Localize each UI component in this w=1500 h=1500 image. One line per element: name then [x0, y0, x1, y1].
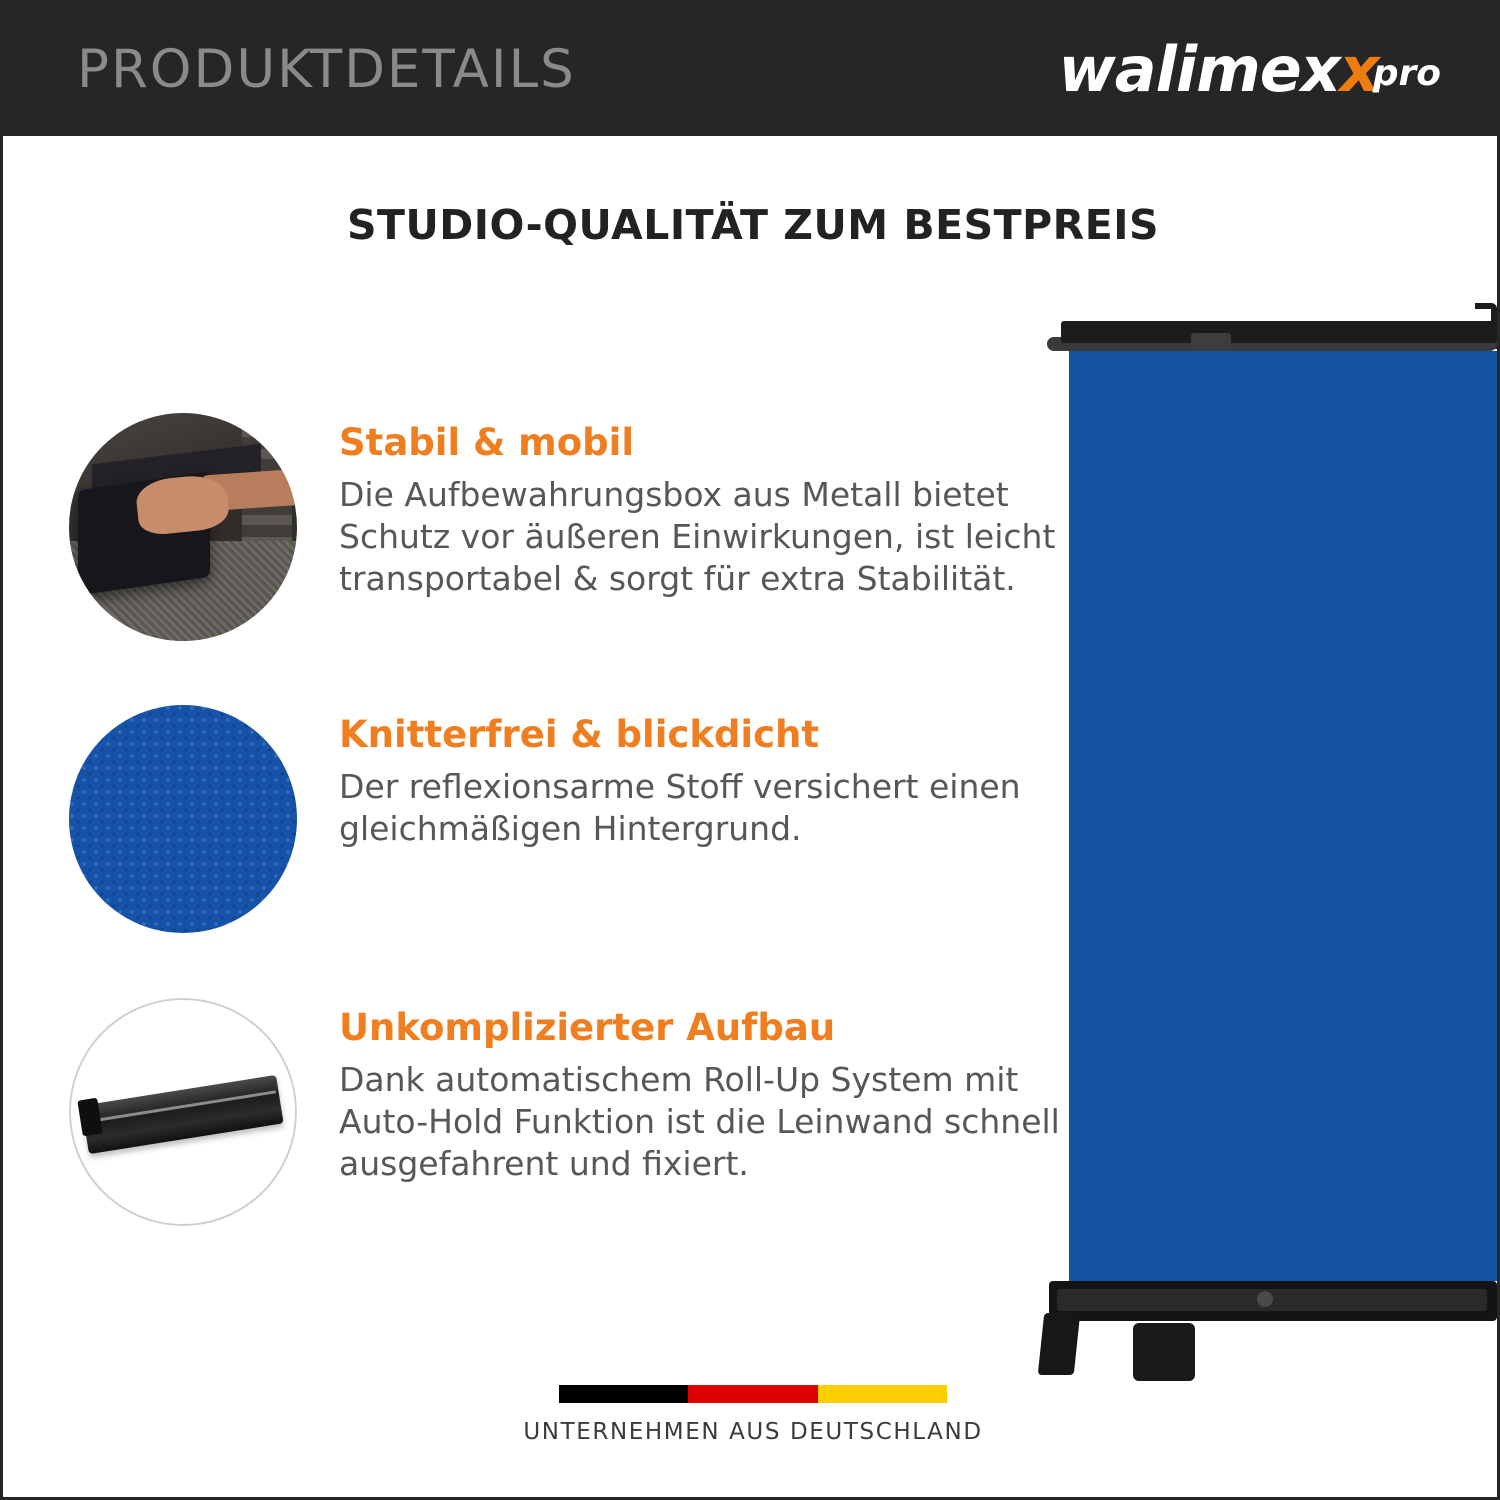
brand-suffix: pro: [1373, 56, 1441, 92]
product-foot: [1133, 1323, 1195, 1381]
brand-logo: walimexxpro: [1058, 39, 1441, 101]
blue-fabric-photo-icon: [69, 705, 297, 933]
feature-text: Knitterfrei & blickdicht Der reflexionsa…: [339, 713, 1079, 850]
feature-title: Stabil & mobil: [339, 421, 1079, 464]
headline: STUDIO-QUALITÄT ZUM BESTPREIS: [3, 201, 1500, 249]
product-screw: [1257, 1291, 1273, 1307]
product-left-leg: [1038, 1313, 1081, 1375]
feature-thumbnail-storage-case: [69, 413, 297, 641]
feature-title: Unkomplizierter Aufbau: [339, 1006, 1079, 1049]
product-top-bar: [1061, 321, 1497, 343]
feature-text: Unkomplizierter Aufbau Dank automatische…: [339, 1006, 1079, 1186]
aluminium-rail-photo-icon: [69, 998, 297, 1226]
flag-stripe-black: [559, 1385, 688, 1403]
header-bar: PRODUKTDETAILS walimexxpro: [3, 3, 1500, 136]
product-knob: [1191, 333, 1231, 347]
feature-text: Stabil & mobil Die Aufbewahrungsbox aus …: [339, 421, 1079, 601]
product-detail-page: PRODUKTDETAILS walimexxpro STUDIO-QUALIT…: [0, 0, 1500, 1500]
feature-title: Knitterfrei & blickdicht: [339, 713, 1079, 756]
german-flag: [559, 1385, 947, 1403]
feature-body: Dank automatischem Roll-Up System mit Au…: [339, 1059, 1079, 1186]
flag-stripe-gold: [818, 1385, 947, 1403]
product-image: [1037, 303, 1497, 1423]
feature-body: Der reflexionsarme Stoff versichert eine…: [339, 766, 1079, 850]
brand-name: walimexx: [1058, 39, 1378, 101]
flag-stripe-red: [688, 1385, 817, 1403]
product-blue-screen: [1069, 351, 1497, 1281]
footer-text: UNTERNEHMEN AUS DEUTSCHLAND: [3, 1419, 1500, 1445]
feature-thumbnail-rail: [69, 998, 297, 1226]
feature-thumbnail-fabric: [69, 705, 297, 933]
page-title: PRODUKTDETAILS: [77, 39, 576, 100]
storage-case-photo-icon: [69, 413, 297, 641]
feature-body: Die Aufbewahrungsbox aus Metall bietet S…: [339, 474, 1079, 601]
